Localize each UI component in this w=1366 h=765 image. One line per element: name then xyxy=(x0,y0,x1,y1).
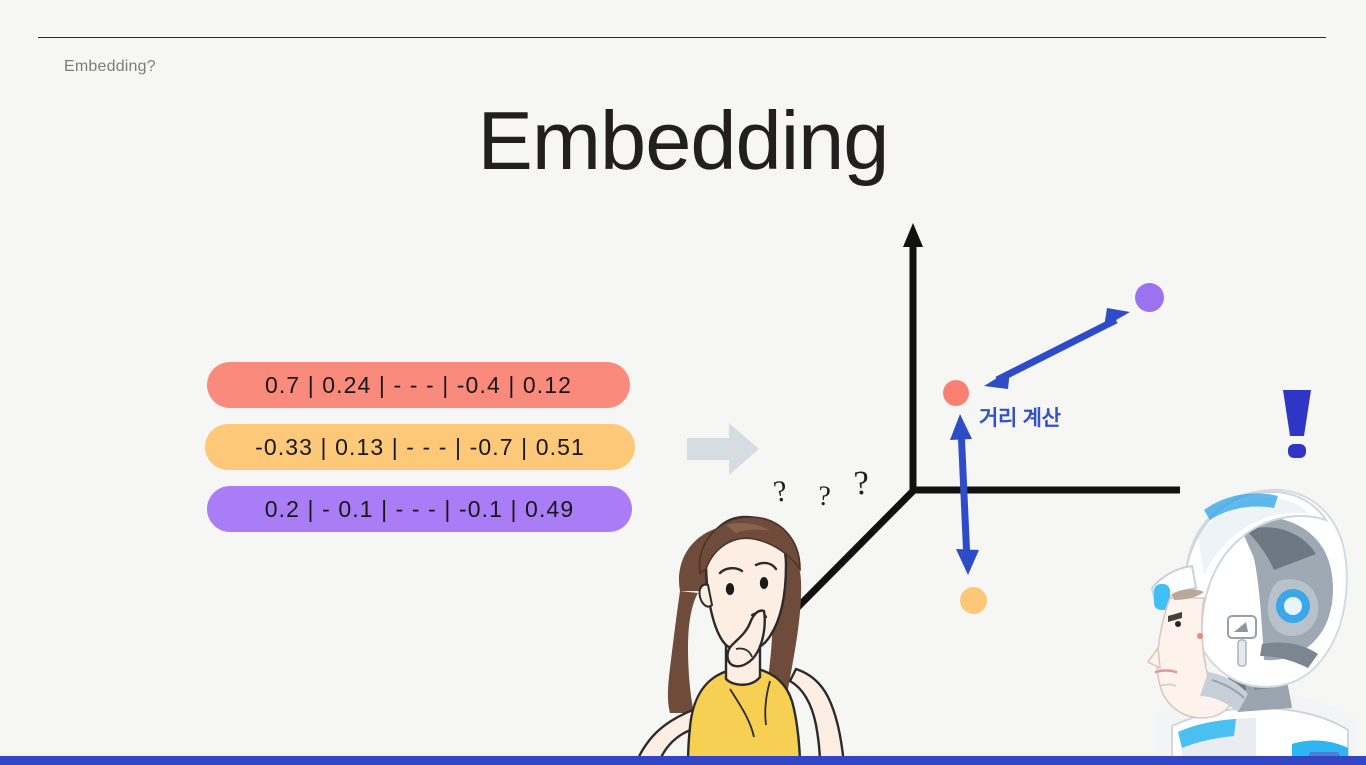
embedding-vector-pill: 0.7 | 0.24 | - - - | -0.4 | 0.12 xyxy=(207,362,630,408)
exclamation-mark-icon xyxy=(1279,388,1315,460)
embedding-vector-pill: -0.33 | 0.13 | - - - | -0.7 | 0.51 xyxy=(205,424,635,470)
orange-point xyxy=(960,587,987,614)
robot-head-illustration xyxy=(1142,476,1366,765)
thinking-woman-illustration xyxy=(614,499,869,765)
block-arrow-right-icon xyxy=(687,421,759,477)
slide-canvas: Embedding? Embedding 꽁꽁 ... 0.7 | 0.24 |… xyxy=(0,0,1366,765)
coral-point xyxy=(943,380,969,406)
embedding-vector-pill: 0.2 | - 0.1 | - - - | -0.1 | 0.49 xyxy=(207,486,632,532)
header-divider xyxy=(38,37,1326,38)
diagonal-distance-arrow xyxy=(970,300,1140,395)
slide-eyebrow-label: Embedding? xyxy=(64,58,156,76)
page-title: Embedding xyxy=(0,99,1366,182)
vertical-distance-arrow xyxy=(938,412,990,577)
distance-calculation-label: 거리 계산 xyxy=(979,402,1061,432)
question-mark-icon: ? xyxy=(853,465,871,504)
footer-accent-bar xyxy=(0,756,1366,765)
